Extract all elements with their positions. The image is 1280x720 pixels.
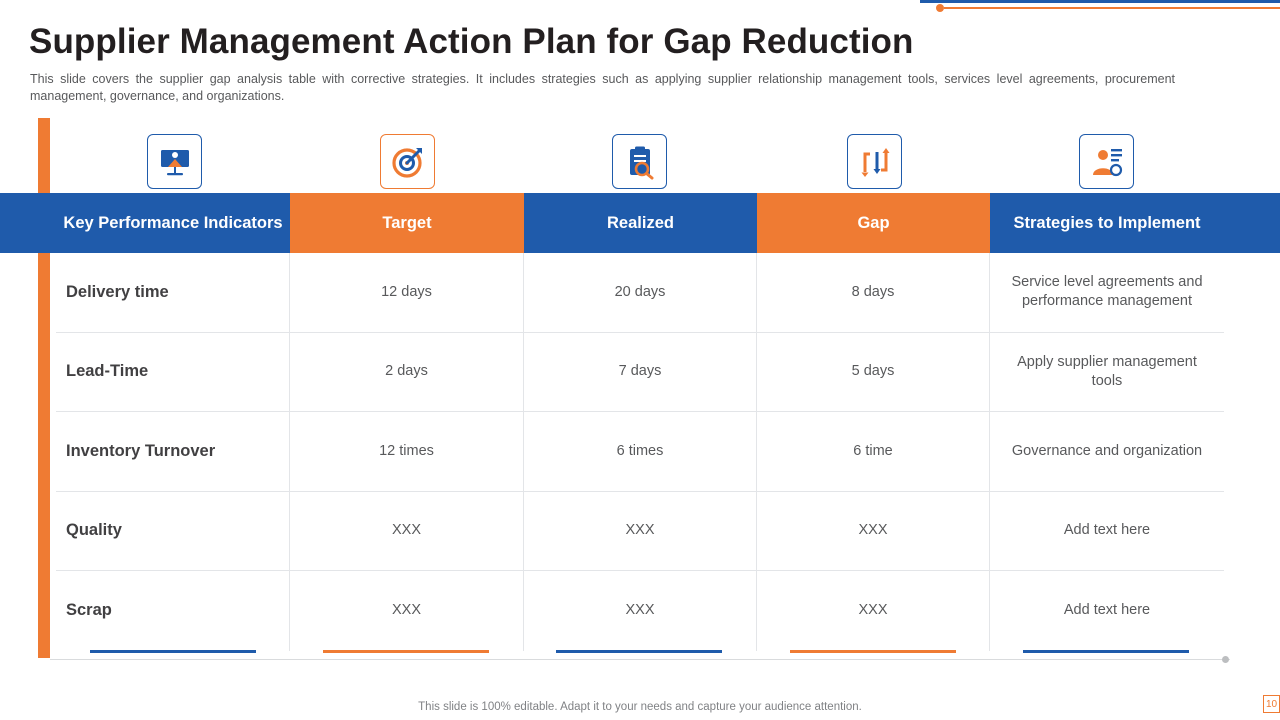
column-header-realized: Realized [524,193,757,253]
underline-accent-gap [790,650,956,653]
presentation-board-icon [147,134,202,189]
cell-realized: XXX [524,492,757,571]
cell-target: 12 times [290,412,524,491]
cell-gap: XXX [757,492,990,571]
column-header-target: Target [290,193,524,253]
slide: Supplier Management Action Plan for Gap … [0,0,1280,720]
up-down-arrows-icon [847,134,902,189]
cell-strategy: Governance and organization [990,412,1224,491]
cell-kpi: Scrap [56,571,290,651]
cell-realized: 20 days [524,253,757,332]
cell-kpi: Inventory Turnover [56,412,290,491]
cell-realized: 7 days [524,333,757,412]
table-body: Delivery time 12 days 20 days 8 days Ser… [56,253,1224,651]
page-title: Supplier Management Action Plan for Gap … [29,22,914,62]
footer-divider [50,659,1230,660]
underline-accent-strategies [1023,650,1189,653]
cell-target: 2 days [290,333,524,412]
cell-kpi: Delivery time [56,253,290,332]
page-subtitle: This slide covers the supplier gap analy… [30,71,1175,104]
column-header-strategies: Strategies to Implement [990,193,1224,253]
cell-strategy: Add text here [990,571,1224,651]
header-pad-right [1224,193,1280,253]
icon-row [56,134,1224,192]
gap-analysis-table: Key Performance Indicators Target Realiz… [0,193,1280,253]
underline-accent-target [323,650,489,653]
top-decorative-bar-blue [920,0,1280,3]
cell-realized: XXX [524,571,757,651]
table-header-row: Key Performance Indicators Target Realiz… [0,193,1280,253]
table-row: Delivery time 12 days 20 days 8 days Ser… [56,253,1224,333]
header-pad-left [0,193,56,253]
table-row: Scrap XXX XXX XXX Add text here [56,571,1224,651]
cell-kpi: Lead-Time [56,333,290,412]
target-arrow-icon [380,134,435,189]
cell-strategy: Service level agreements and performance… [990,253,1224,332]
footer-note: This slide is 100% editable. Adapt it to… [0,701,1280,713]
cell-target: XXX [290,571,524,651]
table-row: Inventory Turnover 12 times 6 times 6 ti… [56,412,1224,492]
clipboard-search-icon [612,134,667,189]
underline-accent-realized [556,650,722,653]
person-idea-icon [1079,134,1134,189]
table-row: Quality XXX XXX XXX Add text here [56,492,1224,572]
column-header-kpi: Key Performance Indicators [56,193,290,253]
column-underline-accents [56,650,1224,654]
cell-kpi: Quality [56,492,290,571]
cell-target: 12 days [290,253,524,332]
footer-dot [1222,656,1229,663]
cell-strategy: Apply supplier management tools [990,333,1224,412]
cell-target: XXX [290,492,524,571]
top-decorative-bar-orange [944,7,1280,9]
cell-gap: XXX [757,571,990,651]
column-header-gap: Gap [757,193,990,253]
page-number: 10 [1263,695,1280,713]
cell-gap: 5 days [757,333,990,412]
table-row: Lead-Time 2 days 7 days 5 days Apply sup… [56,333,1224,413]
cell-gap: 6 time [757,412,990,491]
cell-strategy: Add text here [990,492,1224,571]
underline-accent-kpi [90,650,256,653]
cell-gap: 8 days [757,253,990,332]
top-decorative-dot [936,4,944,12]
cell-realized: 6 times [524,412,757,491]
